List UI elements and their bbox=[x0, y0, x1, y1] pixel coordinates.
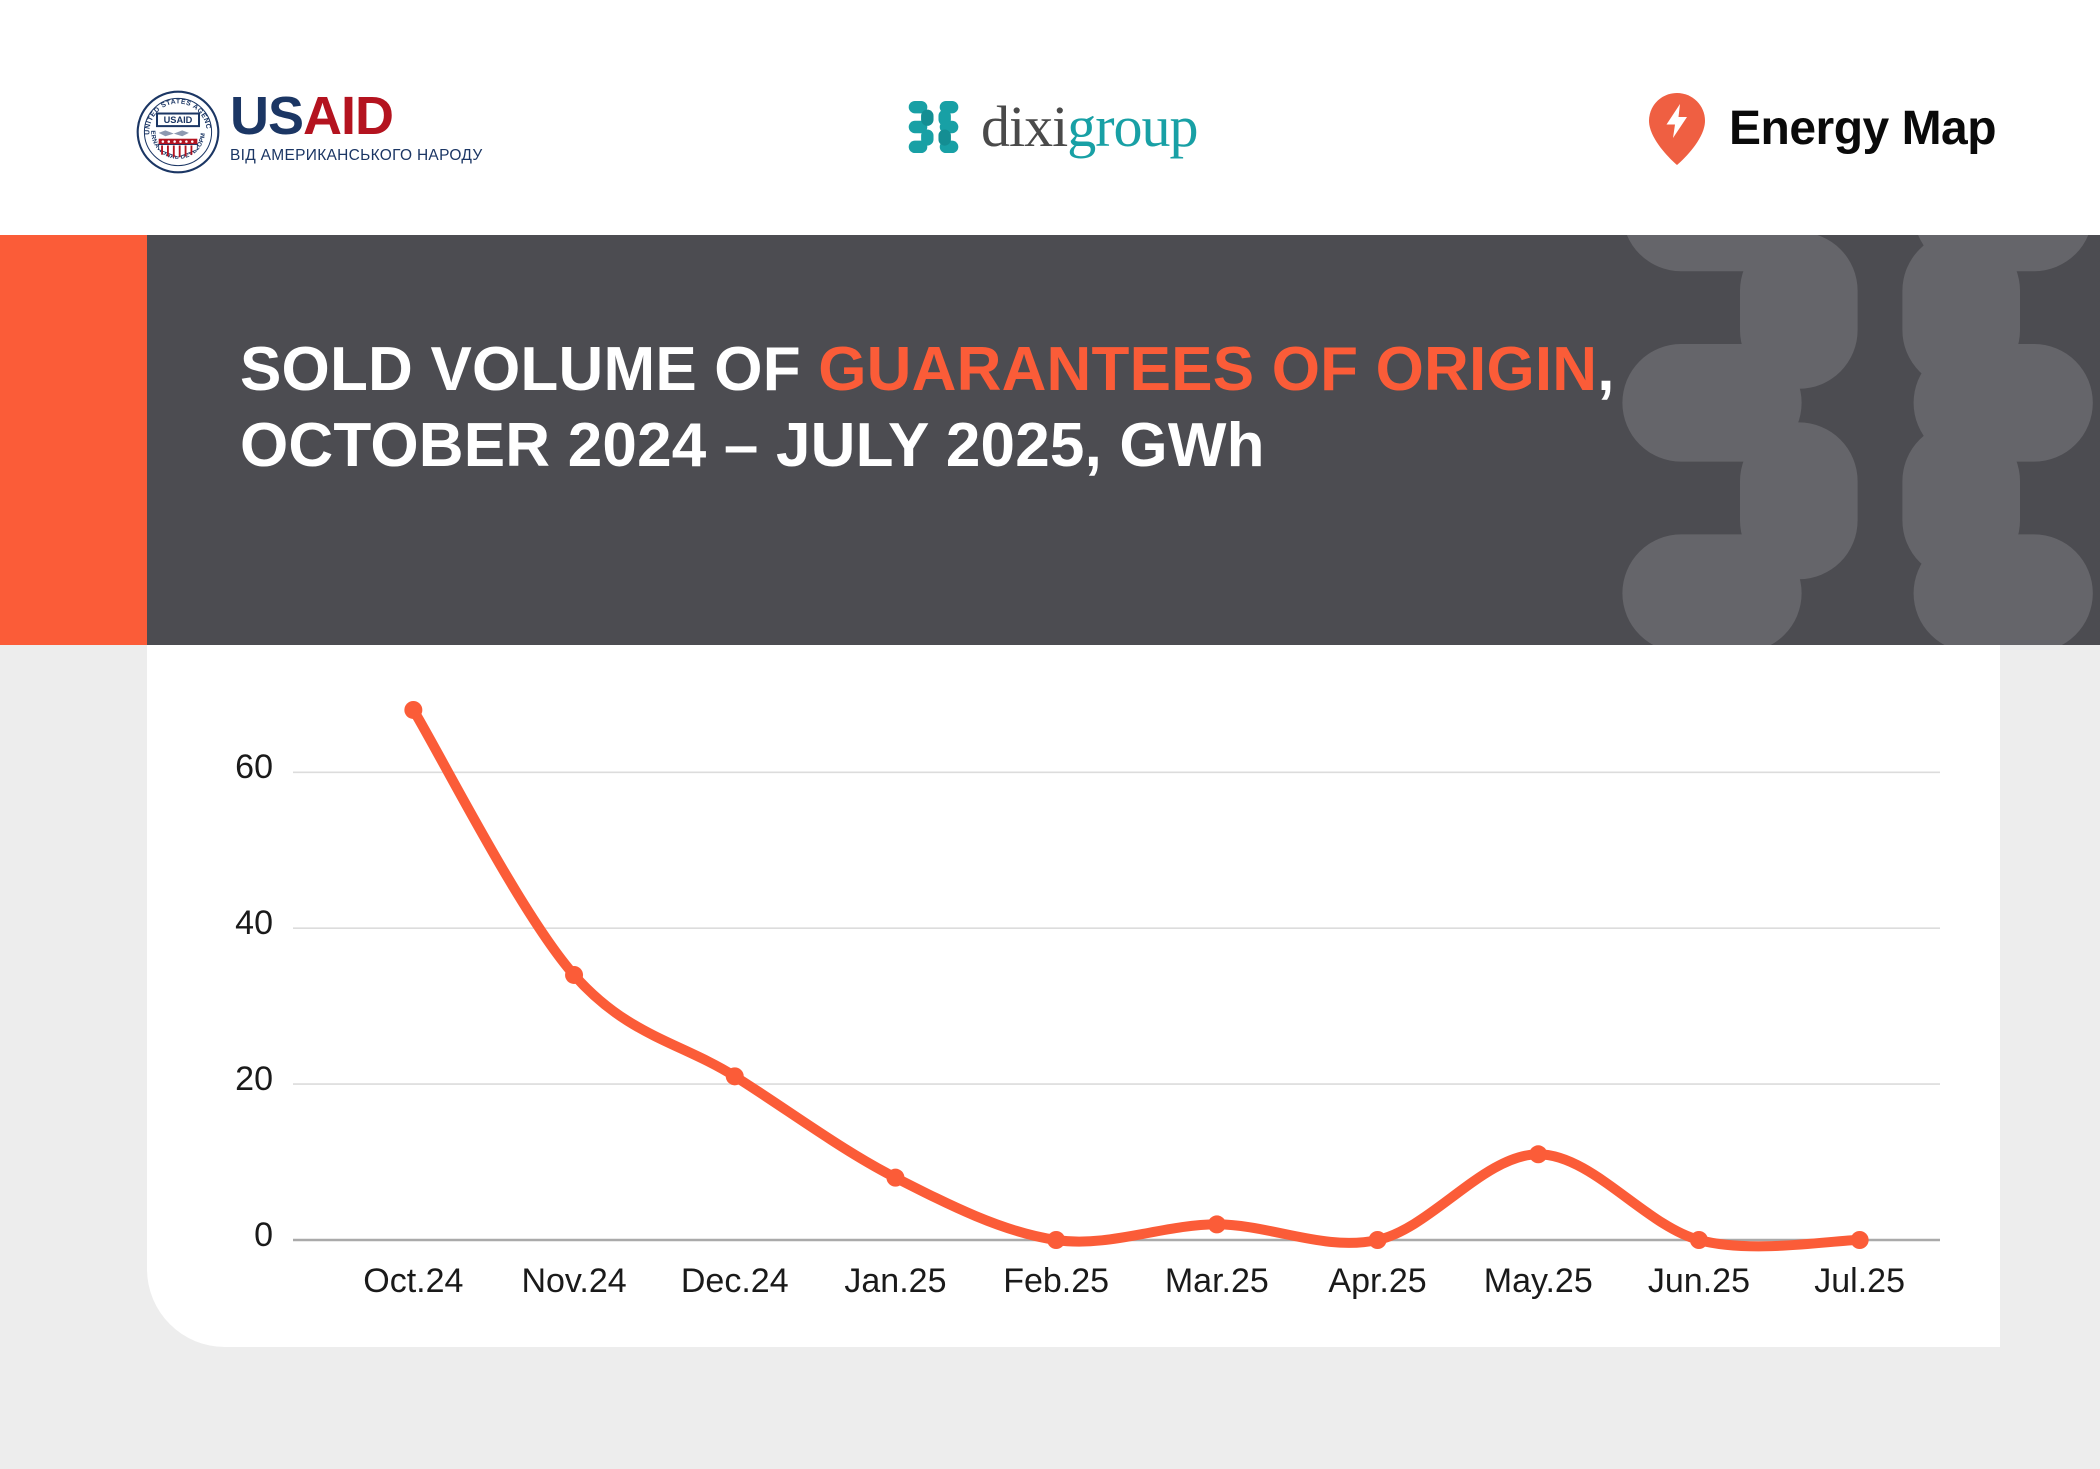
line-chart: 0204060Oct.24Nov.24Dec.24Jan.25Feb.25Mar… bbox=[147, 645, 2000, 1347]
usaid-wordmark: USAID ВІД АМЕРИКАНСЬКОГО НАРОДУ bbox=[230, 88, 483, 165]
usaid-wordmark-text: USAID bbox=[230, 88, 483, 144]
data-point[interactable] bbox=[1208, 1215, 1226, 1233]
x-axis-tick-label: Feb.25 bbox=[966, 1262, 1146, 1301]
x-axis-tick-label: Jul.25 bbox=[1770, 1262, 1950, 1301]
page-title: SOLD VOLUME OF GUARANTEES OF ORIGIN, OCT… bbox=[240, 332, 1615, 484]
usaid-seal-icon: UNITED STATES AGENCY INTERNATIONAL DEVEL… bbox=[136, 90, 220, 174]
dixigroup-mark-icon bbox=[905, 96, 967, 158]
usaid-word-aid: AID bbox=[303, 86, 393, 146]
x-axis-tick-label: Nov.24 bbox=[484, 1262, 664, 1301]
energy-map-logo: Energy Map bbox=[1647, 92, 1996, 166]
usaid-tagline: ВІД АМЕРИКАНСЬКОГО НАРОДУ bbox=[230, 147, 483, 165]
header-accent-block bbox=[0, 235, 147, 645]
data-point[interactable] bbox=[1690, 1231, 1708, 1249]
page-title-line1: SOLD VOLUME OF GUARANTEES OF ORIGIN, bbox=[240, 332, 1615, 408]
page-title-highlight: GUARANTEES OF ORIGIN bbox=[818, 335, 1597, 404]
svg-text:USAID: USAID bbox=[164, 115, 193, 125]
x-axis-tick-label: Dec.24 bbox=[645, 1262, 825, 1301]
data-point[interactable] bbox=[1369, 1231, 1387, 1249]
y-axis-tick-label: 40 bbox=[183, 904, 273, 943]
y-axis-tick-label: 0 bbox=[183, 1216, 273, 1255]
usaid-word-us: US bbox=[230, 86, 303, 146]
data-point[interactable] bbox=[565, 966, 583, 984]
logo-bar: UNITED STATES AGENCY INTERNATIONAL DEVEL… bbox=[0, 0, 2100, 235]
data-point[interactable] bbox=[404, 701, 422, 719]
map-pin-lightning-icon bbox=[1647, 92, 1707, 166]
x-axis-tick-label: Apr.25 bbox=[1288, 1262, 1468, 1301]
header-band: SOLD VOLUME OF GUARANTEES OF ORIGIN, OCT… bbox=[0, 235, 2100, 645]
infographic-page: UNITED STATES AGENCY INTERNATIONAL DEVEL… bbox=[0, 0, 2100, 1469]
data-line bbox=[413, 710, 1859, 1246]
data-point[interactable] bbox=[1851, 1231, 1869, 1249]
dixigroup-word-dixi: dixi bbox=[981, 94, 1067, 159]
usaid-logo: UNITED STATES AGENCY INTERNATIONAL DEVEL… bbox=[136, 88, 483, 174]
dixigroup-logo: dixigroup bbox=[905, 96, 1198, 158]
chart-canvas bbox=[147, 645, 2000, 1347]
page-title-suffix: , bbox=[1597, 335, 1614, 404]
data-point[interactable] bbox=[1529, 1145, 1547, 1163]
page-title-prefix: SOLD VOLUME OF bbox=[240, 335, 818, 404]
x-axis-tick-label: Oct.24 bbox=[323, 1262, 503, 1301]
y-axis-tick-label: 20 bbox=[183, 1060, 273, 1099]
data-point[interactable] bbox=[726, 1067, 744, 1085]
dixigroup-pattern-icon bbox=[1600, 235, 2100, 645]
page-title-line2: OCTOBER 2024 – JULY 2025, GWh bbox=[240, 408, 1615, 484]
x-axis-tick-label: May.25 bbox=[1448, 1262, 1628, 1301]
data-point[interactable] bbox=[1047, 1231, 1065, 1249]
data-point[interactable] bbox=[886, 1169, 904, 1187]
chart-card: 0204060Oct.24Nov.24Dec.24Jan.25Feb.25Mar… bbox=[147, 645, 2000, 1347]
dixigroup-wordmark: dixigroup bbox=[981, 98, 1198, 156]
x-axis-tick-label: Jan.25 bbox=[805, 1262, 985, 1301]
dixigroup-word-group: group bbox=[1067, 94, 1197, 159]
x-axis-tick-label: Mar.25 bbox=[1127, 1262, 1307, 1301]
y-axis-tick-label: 60 bbox=[183, 748, 273, 787]
x-axis-tick-label: Jun.25 bbox=[1609, 1262, 1789, 1301]
energy-map-label: Energy Map bbox=[1729, 104, 1996, 154]
